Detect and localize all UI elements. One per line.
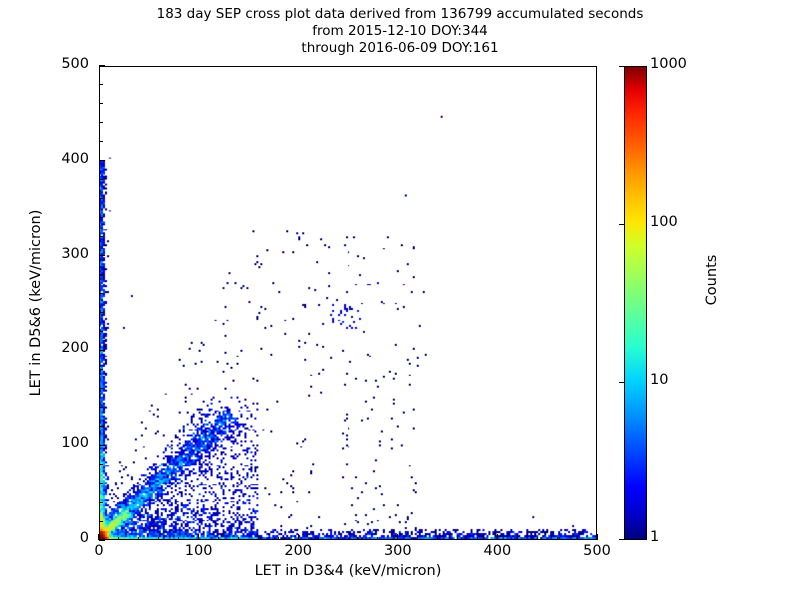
y-minor-tick (99, 198, 103, 199)
x-minor-tick (357, 537, 358, 541)
title-line-2: from 2015-12-10 DOY:344 (0, 23, 800, 40)
colorbar-label-10: 10 (650, 372, 668, 388)
x-minor-tick (557, 537, 558, 541)
x-tick-mark-300 (397, 534, 398, 540)
x-axis-title: LET in D3&4 (keV/micron) (99, 563, 597, 579)
y-axis-title: LET in D5&6 (keV/micron) (28, 163, 44, 443)
x-minor-tick (537, 537, 538, 541)
y-tick-label-300: 300 (0, 246, 89, 262)
x-minor-tick (338, 537, 339, 541)
y-tick-mark-0 (99, 539, 105, 540)
y-tick-label-200: 200 (0, 340, 89, 356)
x-tick-label-200: 200 (263, 543, 333, 559)
x-tick-label-300: 300 (363, 543, 433, 559)
colorbar-label-1000: 1000 (650, 56, 687, 72)
y-tick-label-500: 500 (0, 56, 89, 72)
y-tick-label-400: 400 (0, 151, 89, 167)
x-tick-label-100: 100 (164, 543, 234, 559)
x-minor-tick (377, 537, 378, 541)
colorbar-label-1: 1 (650, 529, 659, 545)
x-minor-tick (517, 537, 518, 541)
x-minor-tick (138, 537, 139, 541)
y-tick-label-100: 100 (0, 435, 89, 451)
y-minor-tick (99, 388, 103, 389)
y-tick-mark-500 (99, 65, 105, 66)
y-minor-tick (99, 122, 103, 123)
y-tick-mark-100 (99, 445, 105, 446)
scatter-density-canvas (100, 67, 596, 539)
y-minor-tick (99, 331, 103, 332)
y-minor-tick (99, 407, 103, 408)
x-minor-tick (417, 537, 418, 541)
figure-root: 183 day SEP cross plot data derived from… (0, 0, 800, 600)
y-minor-tick (99, 483, 103, 484)
y-minor-tick (99, 521, 103, 522)
x-tick-label-500: 500 (562, 543, 632, 559)
y-minor-tick (99, 502, 103, 503)
x-tick-label-400: 400 (462, 543, 532, 559)
y-minor-tick (99, 426, 103, 427)
plot-axes (99, 66, 597, 540)
y-minor-tick (99, 293, 103, 294)
title-line-1: 183 day SEP cross plot data derived from… (0, 6, 800, 23)
x-minor-tick (318, 537, 319, 541)
y-minor-tick (99, 217, 103, 218)
x-tick-mark-200 (298, 534, 299, 540)
colorbar: 1000 100 10 1 (624, 66, 647, 540)
x-minor-tick (437, 537, 438, 541)
x-tick-mark-100 (198, 534, 199, 540)
y-tick-mark-200 (99, 350, 105, 351)
y-tick-mark-300 (99, 255, 105, 256)
title-line-3: through 2016-06-09 DOY:161 (0, 40, 800, 57)
x-tick-label-0: 0 (64, 543, 134, 559)
x-minor-tick (477, 537, 478, 541)
figure-title: 183 day SEP cross plot data derived from… (0, 6, 800, 57)
x-minor-tick (158, 537, 159, 541)
y-minor-tick (99, 84, 103, 85)
colorbar-label-100: 100 (650, 214, 678, 230)
y-minor-tick (99, 312, 103, 313)
y-minor-tick (99, 103, 103, 104)
x-minor-tick (178, 537, 179, 541)
y-minor-tick (99, 236, 103, 237)
x-tick-mark-400 (497, 534, 498, 540)
y-tick-mark-400 (99, 160, 105, 161)
colorbar-title: Counts (704, 200, 720, 360)
y-minor-tick (99, 179, 103, 180)
x-minor-tick (238, 537, 239, 541)
x-minor-tick (118, 537, 119, 541)
x-minor-tick (218, 537, 219, 541)
y-minor-tick (99, 141, 103, 142)
x-tick-mark-0 (98, 534, 99, 540)
colorbar-tick-100 (619, 224, 624, 225)
x-tick-mark-500 (596, 534, 597, 540)
y-minor-tick (99, 274, 103, 275)
y-minor-tick (99, 464, 103, 465)
colorbar-tick-1000 (619, 66, 624, 67)
x-minor-tick (258, 537, 259, 541)
x-minor-tick (278, 537, 279, 541)
y-minor-tick (99, 369, 103, 370)
colorbar-gradient (624, 66, 647, 540)
x-minor-tick (457, 537, 458, 541)
colorbar-tick-1 (619, 539, 624, 540)
colorbar-tick-10 (619, 382, 624, 383)
x-minor-tick (577, 537, 578, 541)
